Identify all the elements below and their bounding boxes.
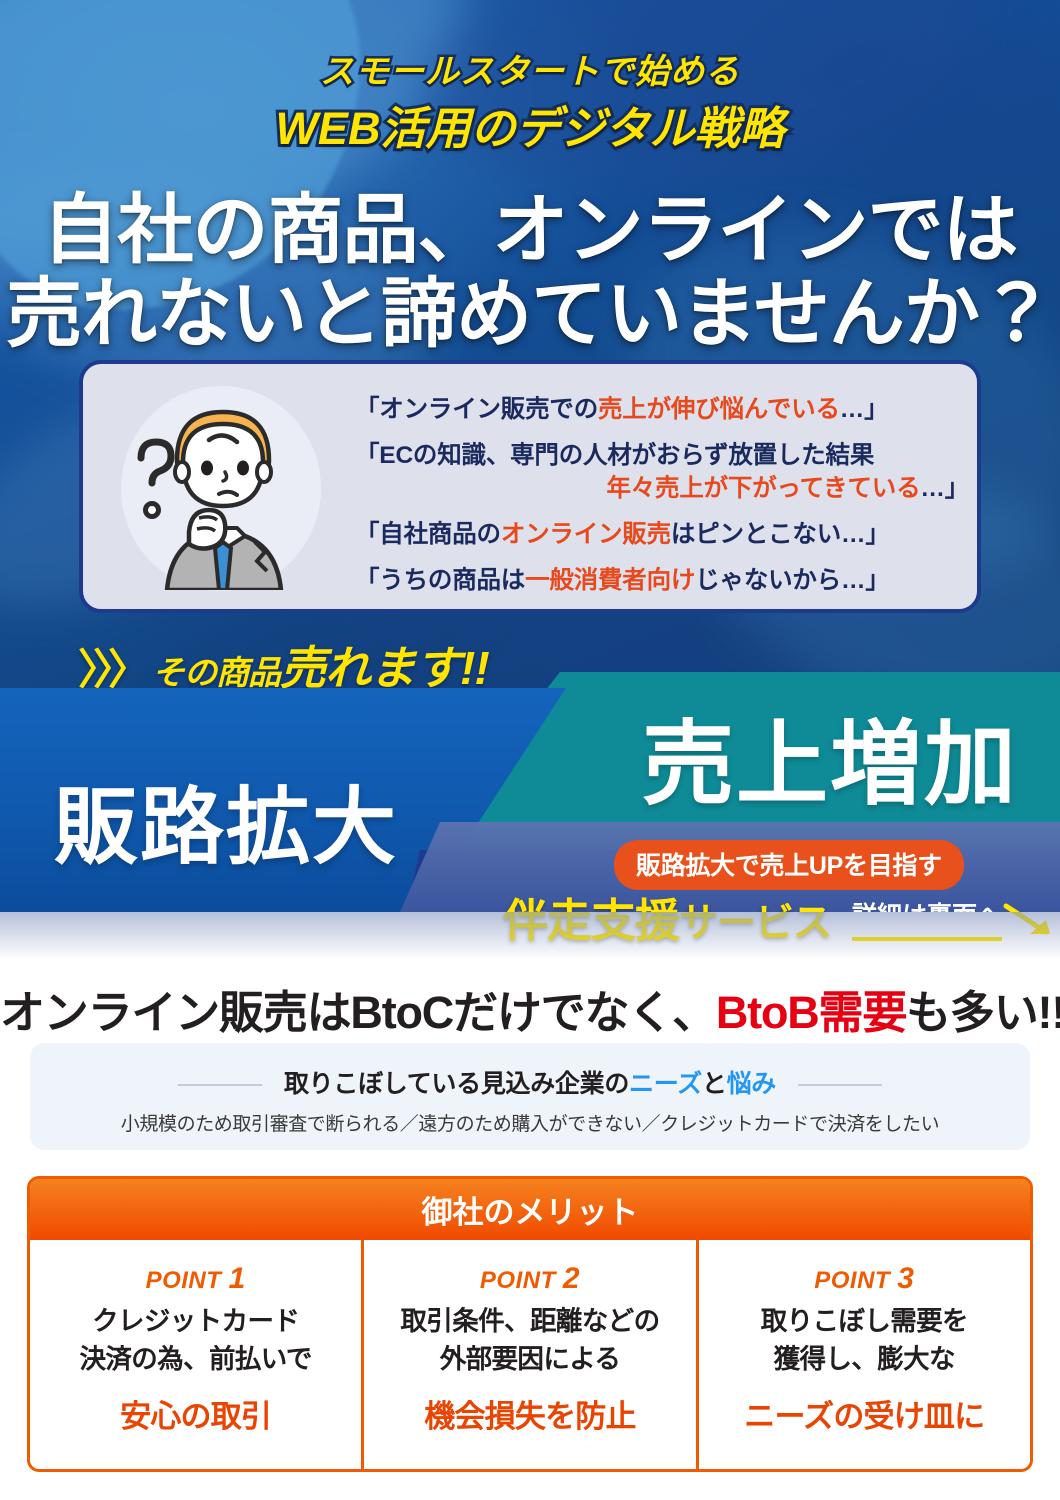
point-label-3: POINT 3 (814, 1262, 914, 1296)
banner-sales-increase-text: 売上増加 (642, 690, 1018, 823)
btob-demand-headline: オンライン販売はBtoCだけでなく、BtoB需要も多い!! (0, 976, 1060, 1041)
point-label-text: POINT (814, 1267, 890, 1294)
merit-body-line1: 取りこぼし需要を (761, 1303, 968, 1341)
hero-headline-line2: 売れないと諦めていませんか？ (0, 252, 1060, 362)
point-label-2: POINT 2 (480, 1262, 580, 1296)
quote-highlight: オンライン販売 (501, 521, 671, 548)
quote-highlight: 売上が伸び悩んでいる (598, 396, 840, 423)
quote-text: 「オンライン販売での (355, 396, 598, 423)
needs-panel-title: 取りこぼしている見込み企業のニーズと悩み (30, 1064, 1030, 1100)
puzzled-businessman-illustration (125, 390, 321, 590)
merit-table-header: 御社のメリット (30, 1179, 1030, 1240)
merit-body-line2: 獲得し、膨大な (774, 1341, 955, 1379)
point-label-1: POINT 1 (146, 1262, 246, 1296)
btob-headline-inner: オンライン販売はBtoCだけでなく、BtoB需要も多い!! (0, 976, 1060, 1041)
hero-kicker-line2: WEB活用のデジタル戦略 (0, 92, 1060, 157)
merit-column-point3: POINT 3 取りこぼし需要を 獲得し、膨大な ニーズの受け皿に (696, 1240, 1030, 1472)
needs-panel-subtitle: 小規模のため取引審査で断られる／遠方のため購入ができない／クレジットカードで決済… (30, 1109, 1030, 1136)
needs-title-mid: と (702, 1070, 727, 1098)
point-number: 1 (229, 1262, 246, 1295)
merit-strong-phrase: 機会損失を防止 (424, 1391, 635, 1436)
merit-strong-phrase: ニーズの受け皿に (744, 1391, 984, 1436)
merit-body-line2: 決済の為、前払いで (80, 1341, 312, 1379)
quote-item: 「オンライン販売での売上が伸び悩んでいる…」 (355, 394, 969, 427)
merit-table-body: POINT 1 クレジットカード 決済の為、前払いで 安心の取引 POINT 2… (30, 1240, 1030, 1472)
merit-column-point1: POINT 1 クレジットカード 決済の為、前払いで 安心の取引 (30, 1240, 361, 1472)
point-number: 2 (563, 1262, 580, 1295)
btob-headline-post: も多い!! (906, 987, 1060, 1038)
merit-strong-phrase: 安心の取引 (120, 1391, 271, 1436)
quote-item: 「うちの商品は一般消費者向けじゃないから…」 (355, 565, 969, 598)
quote-text-tail: …」 (840, 396, 889, 423)
merit-table: 御社のメリット POINT 1 クレジットカード 決済の為、前払いで 安心の取引… (27, 1176, 1033, 1472)
point-label-text: POINT (146, 1267, 222, 1294)
flyer-page: スモールスタートで始める WEB活用のデジタル戦略 自社の商品、オンラインでは … (0, 0, 1060, 1500)
merit-body-line2: 外部要因による (440, 1341, 621, 1379)
banner-bottom-fade (0, 912, 1060, 960)
prospect-needs-panel: 取りこぼしている見込み企業のニーズと悩み 小規模のため取引審査で断られる／遠方の… (30, 1043, 1030, 1150)
quote-item: 年々売上が下がってきている…」 (355, 473, 969, 506)
quote-highlight: 一般消費者向け (525, 567, 695, 594)
merit-header-title: 御社のメリット (422, 1187, 639, 1232)
merit-body-line1: 取引条件、距離などの (400, 1303, 659, 1341)
needs-title-pre: 取りこぼしている見込み企業の (284, 1070, 629, 1098)
quote-text: 「うちの商品は (355, 567, 525, 594)
quote-text-tail: …」 (920, 475, 969, 502)
btob-headline-red: BtoB需要 (716, 987, 906, 1038)
divider-line-left (178, 1084, 262, 1086)
quote-text: 「自社商品の (355, 521, 501, 548)
quote-text: 「ECの知識、専門の人材がおらず放置した結果 (355, 442, 874, 469)
quote-item: 「ECの知識、専門の人材がおらず放置した結果 (355, 440, 969, 473)
point-label-text: POINT (480, 1267, 556, 1294)
quote-item: 「自社商品のオンライン販売はピンとこない…」 (355, 519, 969, 552)
quote-highlight: 年々売上が下がってきている (606, 475, 920, 502)
point-number: 3 (897, 1262, 914, 1295)
banner-goal-pill: 販路拡大で売上UPを目指す (614, 840, 964, 890)
needs-title-highlight-needs: ニーズ (629, 1070, 702, 1098)
merit-body-line1: クレジットカード (92, 1303, 299, 1341)
banner-channel-expand-text: 販路拡大 (54, 760, 398, 881)
quote-text-tail: はピンとこない…」 (671, 521, 890, 548)
merit-column-point2: POINT 2 取引条件、距離などの 外部要因による 機会損失を防止 (361, 1240, 695, 1472)
divider-line-right (798, 1084, 882, 1086)
hero-kicker-line1: スモールスタートで始める (0, 44, 1060, 93)
btob-headline-pre: オンライン販売はBtoCだけでなく、 (0, 987, 716, 1038)
quote-list: 「オンライン販売での売上が伸び悩んでいる…」 「ECの知識、専門の人材がおらず放… (355, 380, 969, 598)
needs-title-highlight-worries: 悩み (727, 1070, 776, 1098)
quote-text-tail: じゃないから…」 (695, 567, 889, 594)
pain-points-quote-box: 「オンライン販売での売上が伸び悩んでいる…」 「ECの知識、専門の人材がおらず放… (79, 360, 981, 613)
